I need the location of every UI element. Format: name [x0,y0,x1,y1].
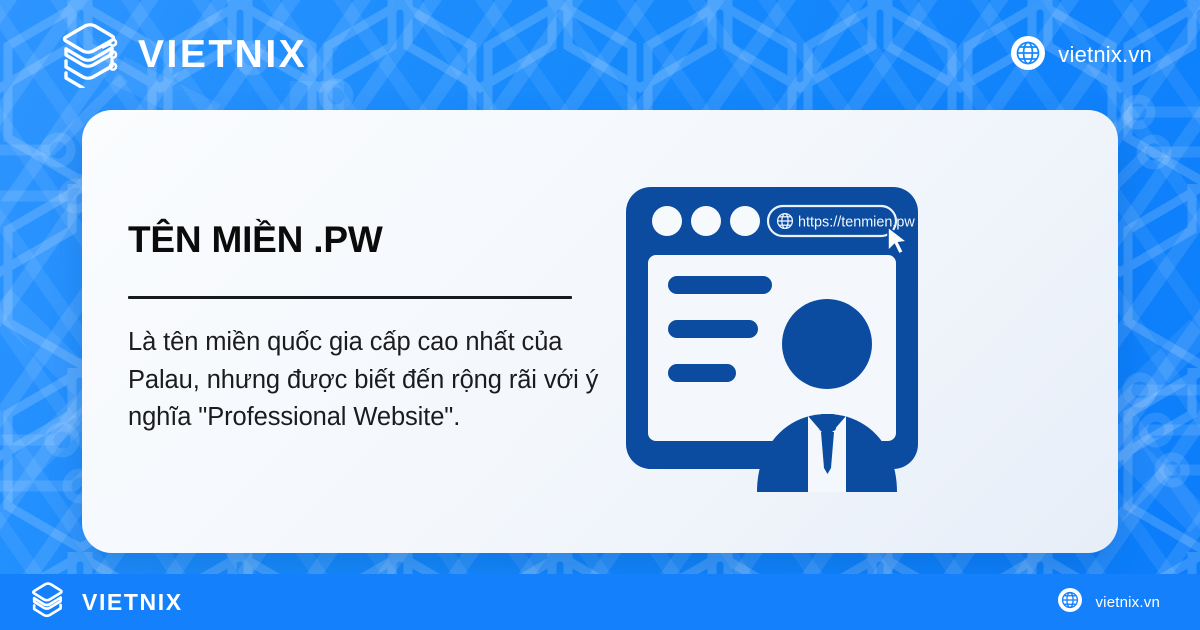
title-divider [128,296,572,299]
poster-canvas: VIETNIX vietnix.vn TÊN MIỀ [0,0,1200,630]
content-bar-3 [668,364,736,382]
content-bar-2 [668,320,758,338]
page-header: VIETNIX vietnix.vn [0,0,1200,110]
stacked-layers-logo-icon [28,579,68,626]
browser-window-with-person-illustration: https://tenmien.pw [612,176,932,492]
card-description-line-1: Là tên miền quốc gia cấp cao nhất của [128,324,615,361]
card-description-line-2: Palau, nhưng được biết đến rộng rãi với … [128,362,615,399]
browser-dot-1 [652,206,682,236]
globe-icon [1058,588,1082,617]
browser-dot-2 [691,206,721,236]
header-brand[interactable]: VIETNIX [58,18,307,93]
footer-website-badge[interactable]: vietnix.vn [1058,588,1160,617]
url-text: https://tenmien.pw [798,215,915,231]
header-website-badge[interactable]: vietnix.vn [1011,36,1152,75]
brand-wordmark: VIETNIX [138,33,307,77]
page-footer: VIETNIX vietnix.vn [0,574,1200,630]
content-bar-1 [668,276,772,294]
browser-dot-3 [730,206,760,236]
card-text-column: TÊN MIỀN .PW Là tên miền quốc gia cấp ca… [82,219,602,436]
footer-brand[interactable]: VIETNIX [28,579,183,626]
page-title: TÊN MIỀN .PW [128,219,602,260]
globe-icon [1011,36,1045,75]
footer-website-label: vietnix.vn [1095,594,1160,611]
footer-brand-wordmark: VIETNIX [82,589,183,616]
card-illustration-column: https://tenmien.pw [602,110,1118,553]
stacked-layers-logo-icon [58,18,124,93]
content-card: TÊN MIỀN .PW Là tên miền quốc gia cấp ca… [82,110,1118,553]
header-website-label: vietnix.vn [1058,42,1152,68]
card-description-line-3: nghĩa "Professional Website". [128,399,615,436]
